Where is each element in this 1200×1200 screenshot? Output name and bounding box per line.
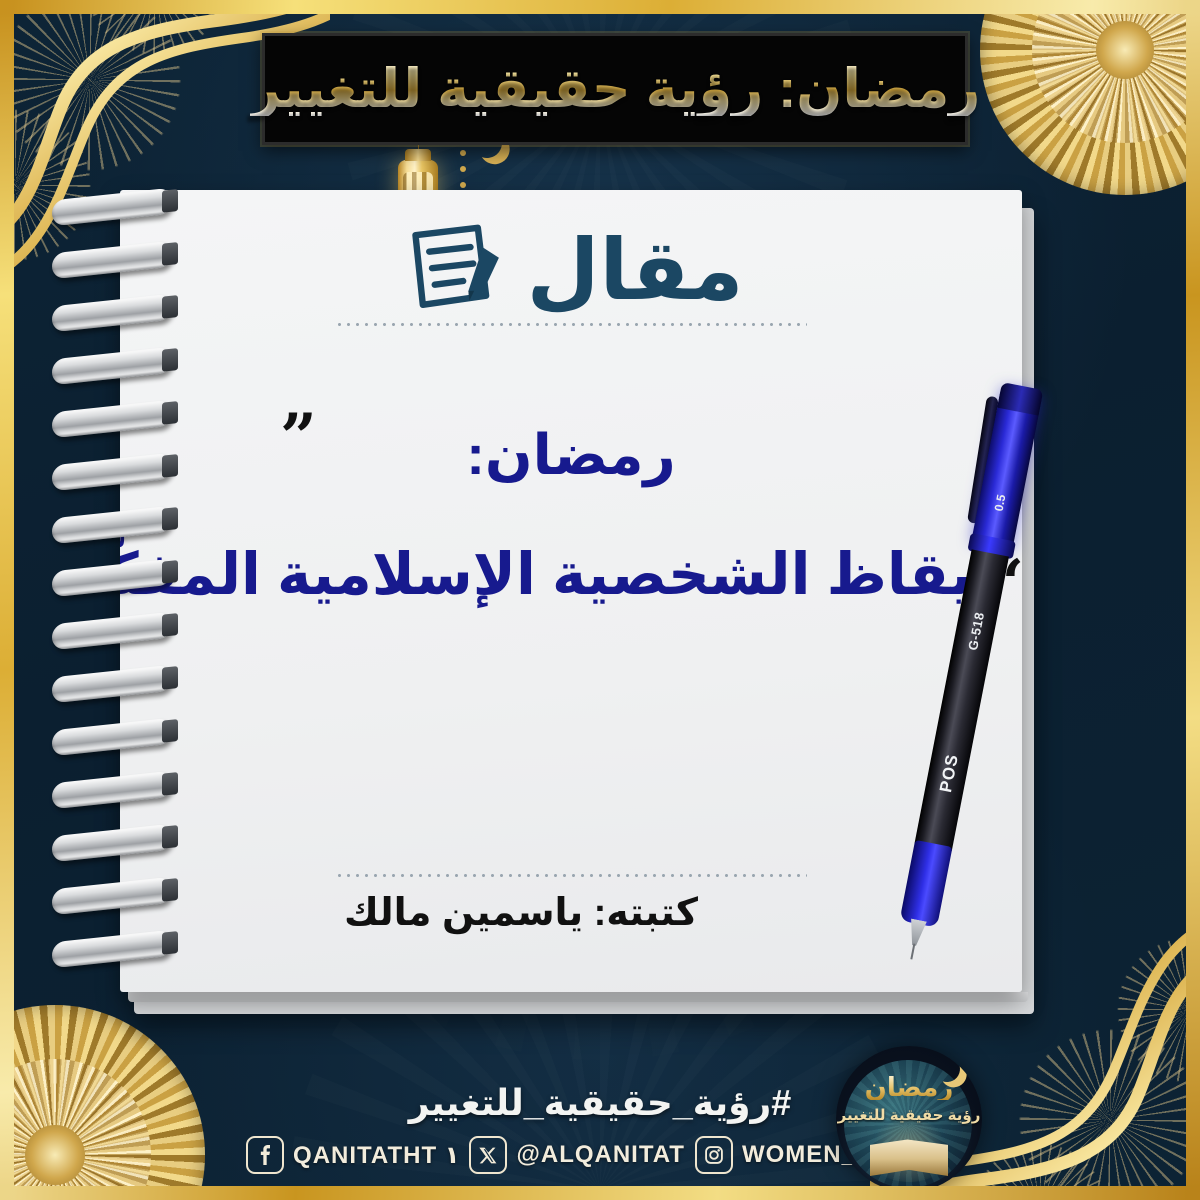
quote-mark-open: “ <box>987 552 1022 616</box>
notebook-page: مقال رمضان: <box>120 190 1022 992</box>
quote-line-1-wrapper: رمضان: ” <box>150 420 992 490</box>
notebook-bottom-edge <box>128 992 1028 1002</box>
separator-bottom <box>335 874 807 877</box>
facebook-icon[interactable] <box>246 1136 284 1174</box>
poster-canvas: رمضان: رؤية حقيقية للتغيير مقال <box>0 0 1200 1200</box>
hashtag: #رؤية_حقيقية_للتغيير <box>0 1082 1200 1124</box>
x-twitter-icon[interactable] <box>469 1136 507 1174</box>
x-handle: @ALQANITAT <box>516 1141 684 1169</box>
author-credit: كتبته: ياسمين مالك <box>120 890 922 935</box>
document-pencil-icon <box>399 215 509 325</box>
quote-block: رمضان: ” إيقاظ الشخصية الإسلامية المفكّر… <box>150 420 992 610</box>
facebook-handle: QANITATHT ١ <box>293 1141 459 1170</box>
mandala-icon <box>980 0 1200 195</box>
poster-title: رمضان: رؤية حقيقية للتغيير <box>250 62 981 116</box>
quote-line-2: إيقاظ الشخصية الإسلامية المفكّرة <box>120 542 992 607</box>
brand-logo-badge: رمضان رؤية حقيقية للتغيير <box>836 1046 982 1192</box>
separator-top <box>335 323 807 326</box>
spiral-binding <box>52 190 182 990</box>
notebook: مقال رمضان: <box>120 190 1032 1005</box>
quote-mark-close: ” <box>280 406 317 470</box>
social-facebook[interactable]: QANITATHT ١ <box>246 1136 459 1174</box>
quote-line-1: رمضان: <box>466 423 676 486</box>
logo-arabic-title: رمضان <box>836 1074 982 1100</box>
instagram-icon[interactable] <box>695 1136 733 1174</box>
quote-line-2-wrapper: إيقاظ الشخصية الإسلامية المفكّرة “ <box>150 540 992 610</box>
title-banner: رمضان: رؤية حقيقية للتغيير <box>262 33 968 145</box>
flower-pattern-icon <box>40 0 270 100</box>
social-links: QANITATHT ١ @ALQANITAT WOMEN_SHARIA <box>0 1136 1200 1174</box>
article-header: مقال <box>120 210 1022 330</box>
article-header-label: مقال <box>527 228 744 312</box>
social-x[interactable]: @ALQANITAT <box>469 1136 684 1174</box>
